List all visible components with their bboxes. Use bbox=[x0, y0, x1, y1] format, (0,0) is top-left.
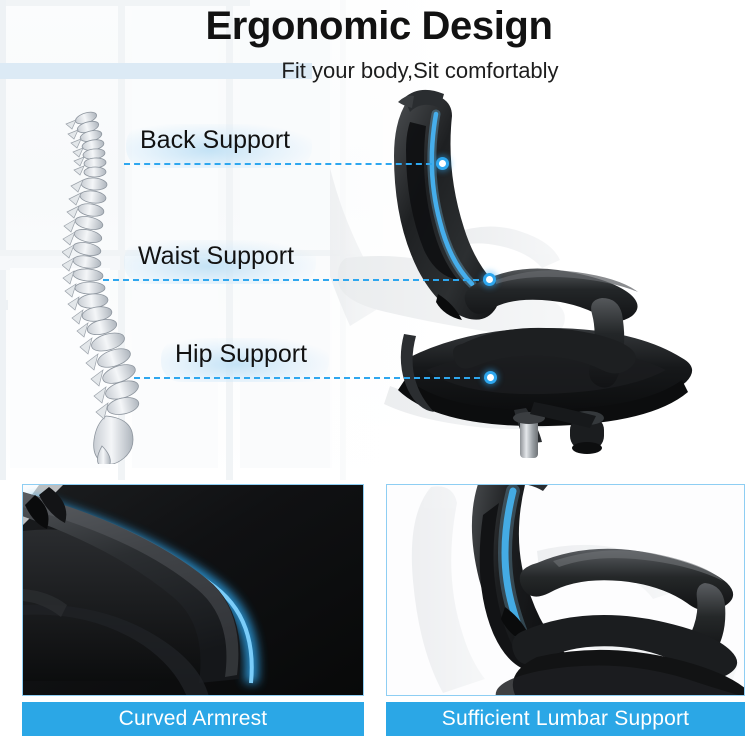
blue-dot-marker-back-support bbox=[436, 157, 449, 170]
callout-back-support: Back Support bbox=[140, 122, 290, 158]
caption-curved-armrest: Curved Armrest bbox=[22, 702, 364, 736]
page-title: Ergonomic Design bbox=[0, 4, 750, 49]
blue-dot-marker-waist-support bbox=[483, 273, 496, 286]
callout-label: Back Support bbox=[140, 126, 290, 155]
blue-dot-marker-hip-support bbox=[484, 371, 497, 384]
leader-line-waist-support bbox=[103, 279, 489, 281]
callout-label: Waist Support bbox=[138, 242, 294, 271]
callout-hip-support: Hip Support bbox=[175, 336, 307, 372]
office-chair-illustration bbox=[330, 86, 750, 486]
leader-line-hip-support bbox=[134, 377, 490, 379]
caption-lumbar-support: Sufficient Lumbar Support bbox=[386, 702, 745, 736]
detail-panel-armrest bbox=[22, 484, 364, 696]
armrest-closeup-image bbox=[23, 485, 364, 696]
callout-waist-support: Waist Support bbox=[138, 238, 294, 274]
product-infographic: Ergonomic Design Fit your body,Sit comfo… bbox=[0, 0, 750, 750]
callout-label: Hip Support bbox=[175, 340, 307, 369]
detail-panel-lumbar bbox=[386, 484, 745, 696]
leader-line-back-support bbox=[124, 163, 442, 165]
page-subtitle: Fit your body,Sit comfortably bbox=[0, 58, 750, 84]
lumbar-closeup-image bbox=[387, 485, 745, 696]
